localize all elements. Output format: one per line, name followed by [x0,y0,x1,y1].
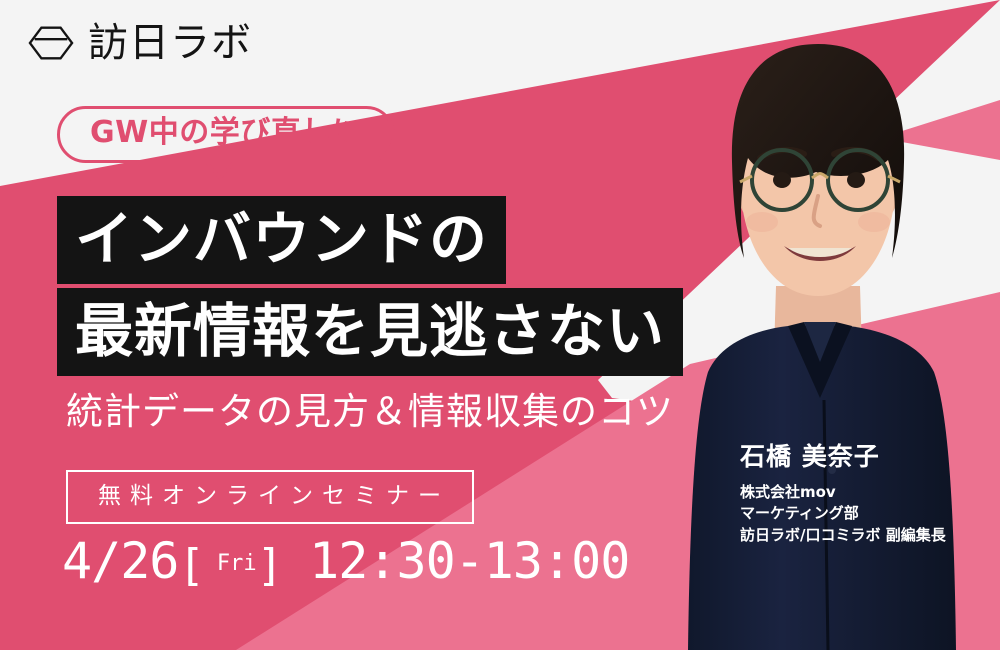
seminar-type-label: 無料オンラインセミナー [66,470,474,524]
headline-line-1: インバウンドの [57,196,506,284]
brand-logo[interactable]: 訪日ラボ [28,20,252,66]
speaker-title: 訪日ラボ/口コミラボ 副編集長 [740,525,946,546]
portrait-cheek-right [858,212,890,232]
badge-pill: GW中の学び直しに [57,106,395,163]
portrait-eye-right [847,172,865,188]
hexagon-logo-icon [28,20,74,66]
bracket-open-icon: [ [178,544,205,588]
bracket-close-icon: ] [257,544,284,588]
logo-text: 訪日ラボ [88,23,252,63]
speaker-portrait [648,0,1000,650]
speaker-department: マーケティング部 [740,503,946,524]
speaker-name: 石橋 美奈子 [740,444,946,469]
schedule-date: 4/26 [62,536,178,586]
portrait-cheek-left [746,212,778,232]
badge-container: GW中の学び直しに [57,106,395,163]
portrait-eye-left [773,172,791,188]
webinar-banner: 訪日ラボ GW中の学び直しに インバウンドの 最新情報を見逃さない 統計データの… [0,0,1000,650]
schedule: 4/26 [ Fri ] 12:30-13:00 [62,536,629,586]
badge-tail-icon [205,162,235,180]
speaker-company: 株式会社mov [740,482,946,503]
headline-line-2: 最新情報を見逃さない [57,288,683,376]
schedule-time: 12:30-13:00 [309,536,629,586]
speaker-info: 石橋 美奈子 株式会社mov マーケティング部 訪日ラボ/口コミラボ 副編集長 [740,444,946,546]
headline: インバウンドの 最新情報を見逃さない [57,196,683,376]
schedule-day-of-week: Fri [217,553,257,575]
subtitle: 統計データの見方＆情報収集のコツ [66,392,674,433]
